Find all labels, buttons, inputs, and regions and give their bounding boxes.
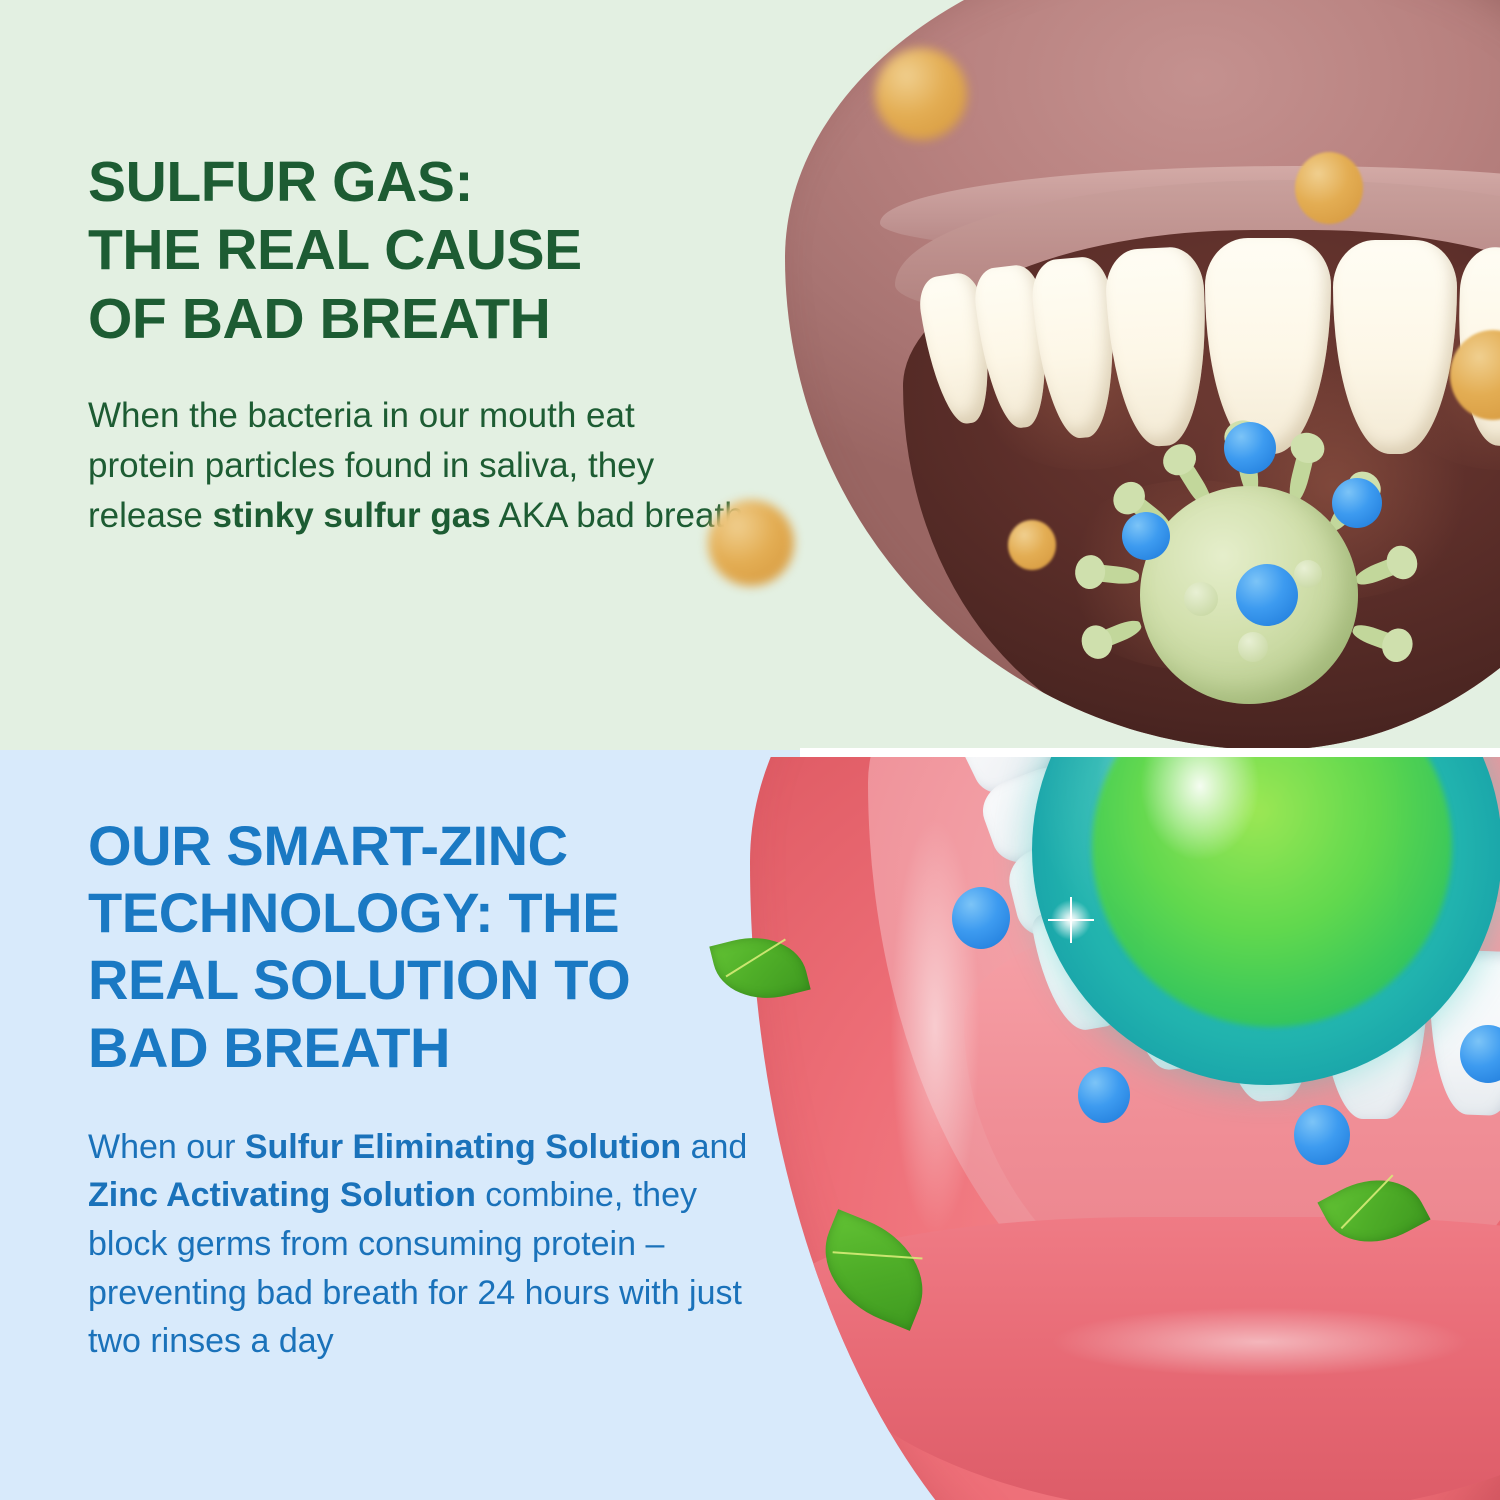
sulfur-particle bbox=[1295, 152, 1363, 224]
sulfur-particle bbox=[708, 500, 794, 586]
solution-headline: OUR SMART-ZINC TECHNOLOGY: THE REAL SOLU… bbox=[88, 812, 748, 1081]
solution-body-part2: and bbox=[681, 1128, 747, 1166]
sulfur-particle bbox=[875, 48, 967, 140]
solution-illustration bbox=[690, 757, 1500, 1500]
problem-body-emphasis: stinky sulfur gas bbox=[213, 496, 491, 535]
problem-illustration bbox=[690, 0, 1500, 752]
solution-body-emphasis-2: Zinc Activating Solution bbox=[88, 1176, 476, 1214]
problem-text-panel: SULFUR GAS: THE REAL CAUSE OF BAD BREATH… bbox=[88, 148, 748, 541]
problem-body-part2: AKA bad breath bbox=[491, 496, 744, 535]
sparkle-icon bbox=[1048, 897, 1094, 943]
panel-divider bbox=[800, 748, 1500, 757]
solution-text-panel: OUR SMART-ZINC TECHNOLOGY: THE REAL SOLU… bbox=[88, 812, 748, 1366]
bacteria-germ bbox=[1088, 420, 1418, 750]
zinc-droplet bbox=[952, 887, 1010, 949]
solution-body: When our Sulfur Eliminating Solution and… bbox=[88, 1123, 748, 1366]
sulfur-particle bbox=[1008, 520, 1056, 570]
problem-headline: SULFUR GAS: THE REAL CAUSE OF BAD BREATH bbox=[88, 148, 748, 353]
problem-body: When the bacteria in our mouth eat prote… bbox=[88, 391, 748, 541]
solution-body-part1: When our bbox=[88, 1128, 245, 1166]
solution-body-emphasis-1: Sulfur Eliminating Solution bbox=[245, 1128, 681, 1166]
zinc-droplet bbox=[1294, 1105, 1350, 1165]
infographic-canvas: SULFUR GAS: THE REAL CAUSE OF BAD BREATH… bbox=[0, 0, 1500, 1500]
zinc-droplet bbox=[1078, 1067, 1130, 1123]
